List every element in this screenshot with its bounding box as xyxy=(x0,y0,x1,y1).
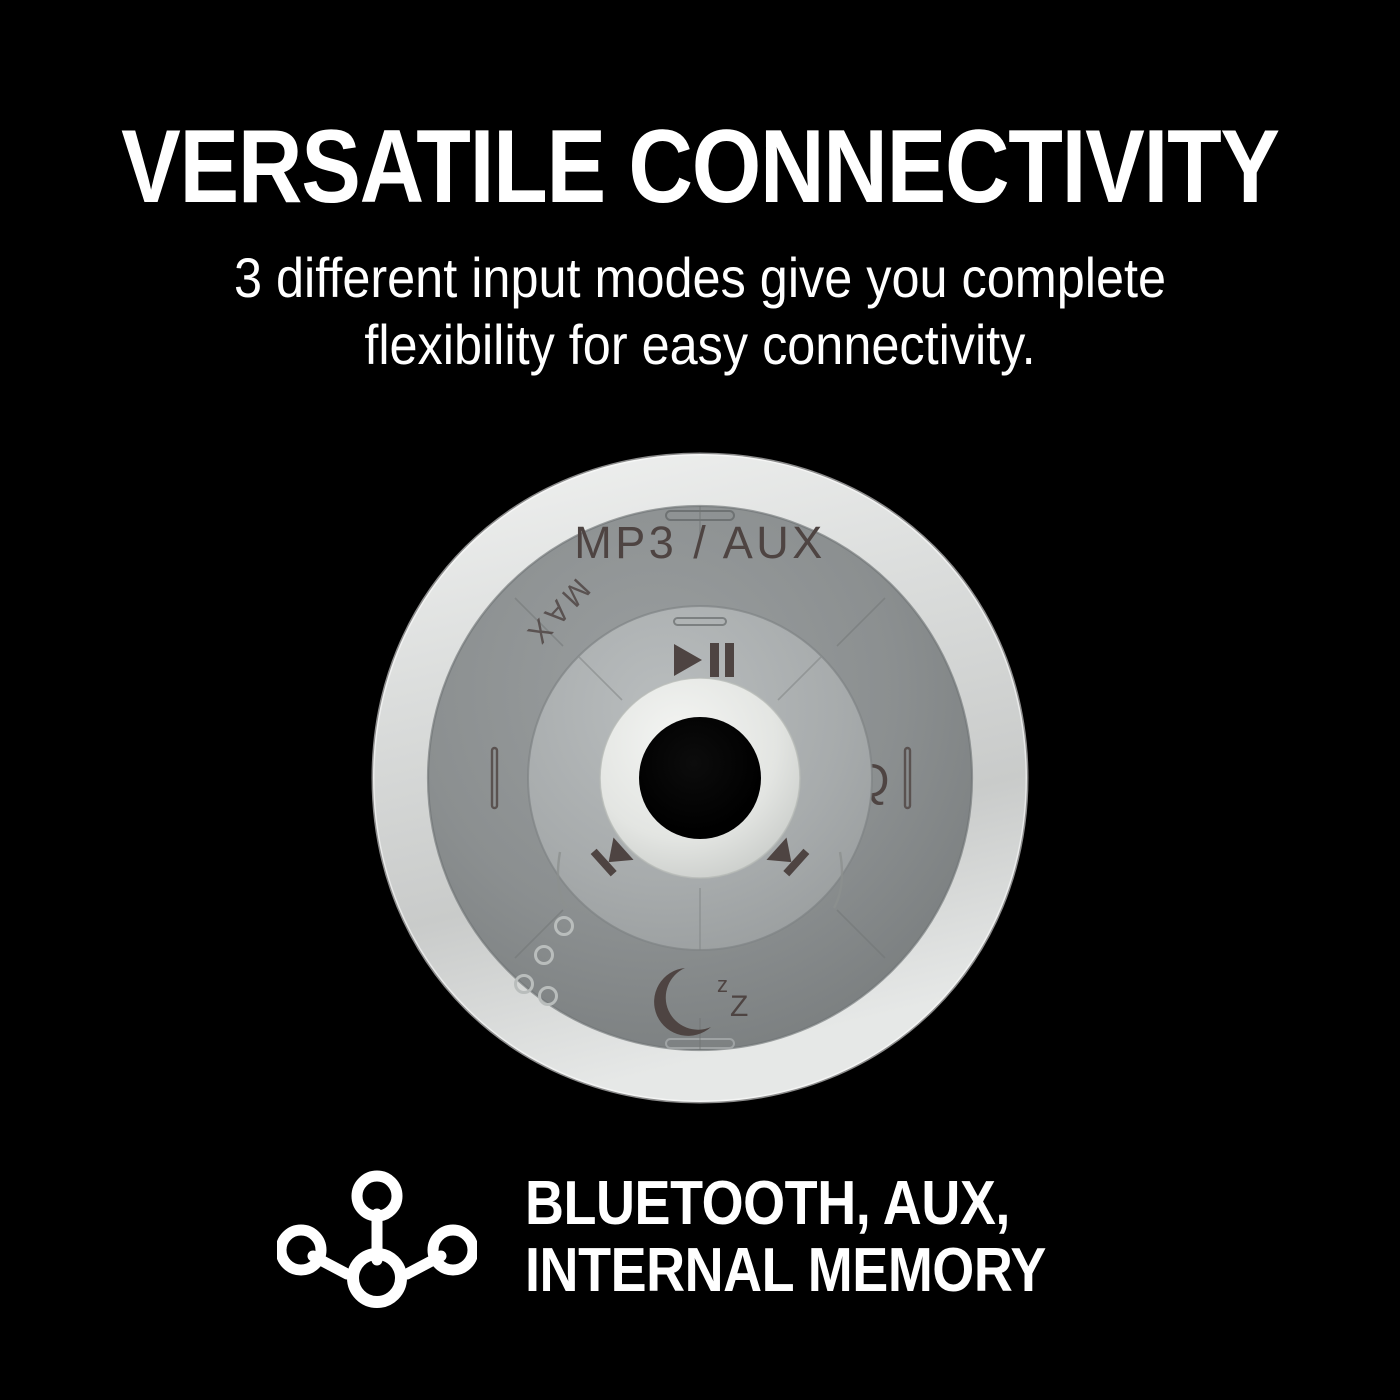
page-subtitle-line-2: flexibility for easy connectivity. xyxy=(364,313,1035,376)
speaker-product-image: MP3 / AUX MAX BT EQ xyxy=(367,448,1033,1108)
feature-callout: BLUETOOTH, AUX, INTERNAL MEMORY xyxy=(0,1168,1400,1308)
page-title: VERSATILE CONNECTIVITY xyxy=(98,118,1302,218)
network-hub-icon xyxy=(277,1168,477,1308)
feature-label-line-2: INTERNAL MEMORY xyxy=(525,1238,1046,1305)
page-subtitle: 3 different input modes give you complet… xyxy=(70,244,1330,378)
sleep-z-small: z xyxy=(717,972,728,997)
center-port xyxy=(639,717,761,839)
page-subtitle-line-1: 3 different input modes give you complet… xyxy=(234,246,1166,309)
feature-label: BLUETOOTH, AUX, INTERNAL MEMORY xyxy=(525,1171,1046,1305)
feature-label-line-1: BLUETOOTH, AUX, xyxy=(525,1171,1046,1238)
hub-node-right xyxy=(433,1230,473,1270)
sleep-z-large: Z xyxy=(730,990,748,1023)
label-mp3-aux: MP3 / AUX xyxy=(574,517,826,568)
header-block: VERSATILE CONNECTIVITY 3 different input… xyxy=(0,118,1400,378)
hub-node-left xyxy=(281,1230,321,1270)
pause-icon-bar-1 xyxy=(710,643,719,677)
pause-icon-bar-2 xyxy=(725,643,734,677)
product-feature-card: VERSATILE CONNECTIVITY 3 different input… xyxy=(0,0,1400,1400)
